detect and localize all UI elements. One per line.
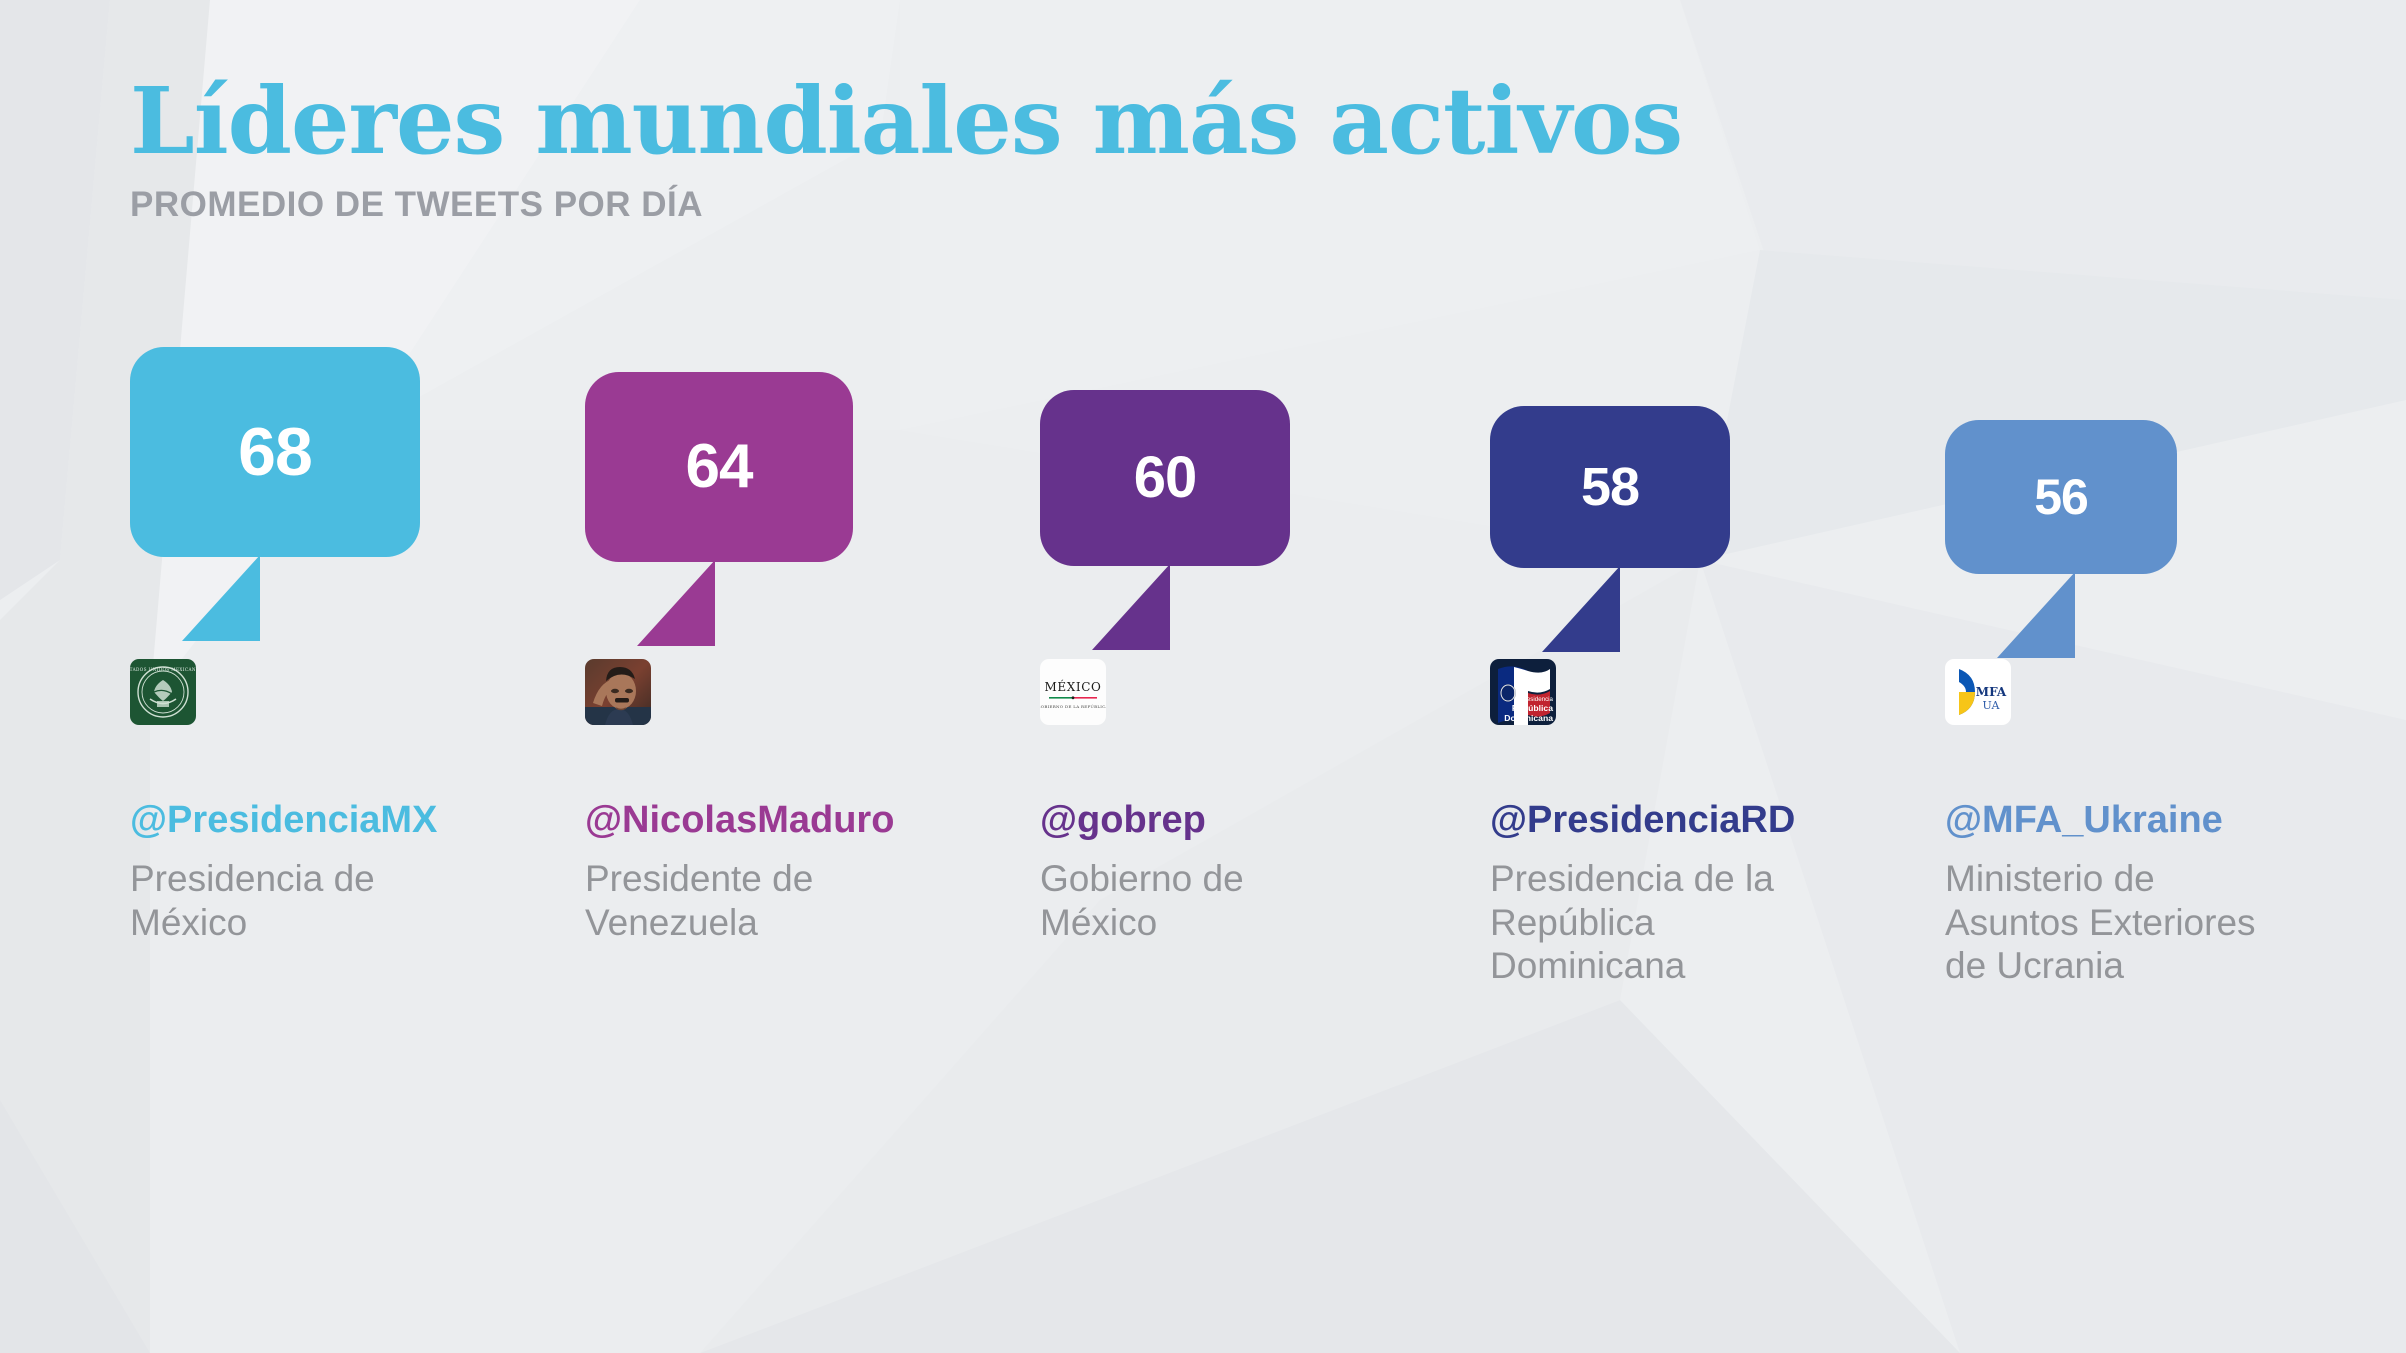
tweet-count-bubble: 58 [1490,406,1730,568]
bubble-body: 68 [130,347,420,557]
bubble-tail [182,555,260,641]
twitter-handle-link[interactable]: @gobrep [1040,800,1206,842]
svg-text:MFA: MFA [1976,685,2007,699]
tweet-count-bubble: 64 [585,372,853,562]
bubble-value: 64 [686,436,753,498]
bubble-body: 60 [1040,390,1290,566]
dominican-republic-flag-icon[interactable]: Presidencia República Dominicana [1490,659,1556,725]
account-description: Gobierno de México [1040,857,1370,944]
mexico-coat-of-arms-icon[interactable]: ESTADOS UNIDOS MEXICANOS [130,659,196,725]
bubble-tail [1542,566,1620,652]
twitter-handle-link[interactable]: @NicolasMaduro [585,800,894,842]
bubble-body: 58 [1490,406,1730,568]
infographic-root: Líderes mundiales más activos PROMEDIO D… [0,0,2406,1353]
bubble-tail [1997,572,2075,658]
mfa-ukraine-logo-icon[interactable]: MFA UA [1945,659,2011,725]
bubble-tail [637,560,715,646]
svg-text:MÉXICO: MÉXICO [1045,679,1102,694]
svg-text:Dominicana: Dominicana [1504,713,1553,723]
bubble-tail [1092,564,1170,650]
page-title: Líderes mundiales más activos [130,75,1682,169]
mexico-gobierno-logo-icon[interactable]: MÉXICO GOBIERNO DE LA REPÚBLICA [1040,659,1106,725]
svg-text:Presidencia: Presidencia [1521,696,1554,703]
account-description: Presidencia de la República Dominicana [1490,857,1820,988]
svg-text:UA: UA [1983,699,2001,712]
tweet-count-bubble: 68 [130,347,420,557]
svg-text:GOBIERNO DE LA REPÚBLICA: GOBIERNO DE LA REPÚBLICA [1040,704,1106,709]
nicolas-maduro-photo-icon[interactable] [585,659,651,725]
account-description: Ministerio de Asuntos Exteriores de Ucra… [1945,857,2275,988]
bubble-value: 68 [238,418,312,486]
twitter-handle-link[interactable]: @PresidenciaRD [1490,800,1795,842]
bubble-value: 56 [2034,472,2088,522]
twitter-handle-link[interactable]: @MFA_Ukraine [1945,800,2223,842]
header: Líderes mundiales más activos PROMEDIO D… [130,75,1682,225]
twitter-handle-link[interactable]: @PresidenciaMX [130,800,437,842]
tweet-count-bubble: 60 [1040,390,1290,566]
bubble-body: 56 [1945,420,2177,574]
tweet-count-bubble: 56 [1945,420,2177,574]
account-description: Presidencia de México [130,857,460,944]
bubble-value: 58 [1581,460,1639,514]
svg-text:República: República [1512,703,1553,713]
account-description: Presidente de Venezuela [585,857,915,944]
bubble-value: 60 [1134,449,1197,507]
page-subtitle: PROMEDIO DE TWEETS POR DÍA [130,185,1682,225]
bubble-body: 64 [585,372,853,562]
svg-text:ESTADOS UNIDOS MEXICANOS: ESTADOS UNIDOS MEXICANOS [130,667,196,672]
